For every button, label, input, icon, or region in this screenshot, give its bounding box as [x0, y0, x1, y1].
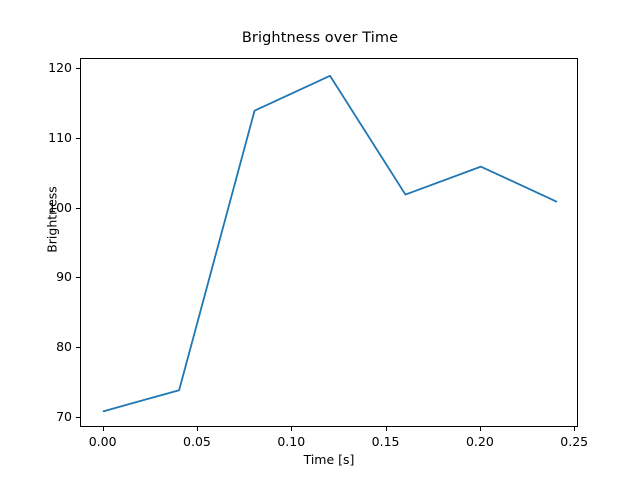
y-tick-label: 80 — [20, 339, 72, 354]
y-tick-mark — [76, 417, 80, 418]
y-tick-mark — [76, 347, 80, 348]
chart-figure: Brightness over Time 708090100110120 0.0… — [0, 0, 640, 480]
y-tick-mark — [76, 277, 80, 278]
x-tick-label: 0.25 — [544, 434, 604, 449]
y-tick-mark — [76, 68, 80, 69]
x-tick-label: 0.05 — [167, 434, 227, 449]
y-tick-label: 120 — [20, 60, 72, 75]
x-axis-label: Time [s] — [80, 452, 578, 467]
x-tick-label: 0.10 — [261, 434, 321, 449]
y-tick-mark — [76, 138, 80, 139]
y-tick-label: 70 — [20, 409, 72, 424]
x-tick-mark — [291, 427, 292, 431]
plot-axes — [80, 58, 578, 427]
x-tick-label: 0.00 — [73, 434, 133, 449]
x-tick-mark — [386, 427, 387, 431]
x-tick-mark — [197, 427, 198, 431]
x-tick-label: 0.15 — [356, 434, 416, 449]
y-axis-label: Brightness — [45, 160, 60, 280]
line-plot-svg — [81, 59, 579, 428]
y-tick-label: 110 — [20, 130, 72, 145]
x-tick-mark — [480, 427, 481, 431]
x-tick-label: 0.20 — [450, 434, 510, 449]
x-tick-mark — [574, 427, 575, 431]
x-tick-mark — [103, 427, 104, 431]
brightness-line-series — [104, 76, 557, 411]
chart-title: Brightness over Time — [0, 30, 640, 46]
y-tick-mark — [76, 208, 80, 209]
